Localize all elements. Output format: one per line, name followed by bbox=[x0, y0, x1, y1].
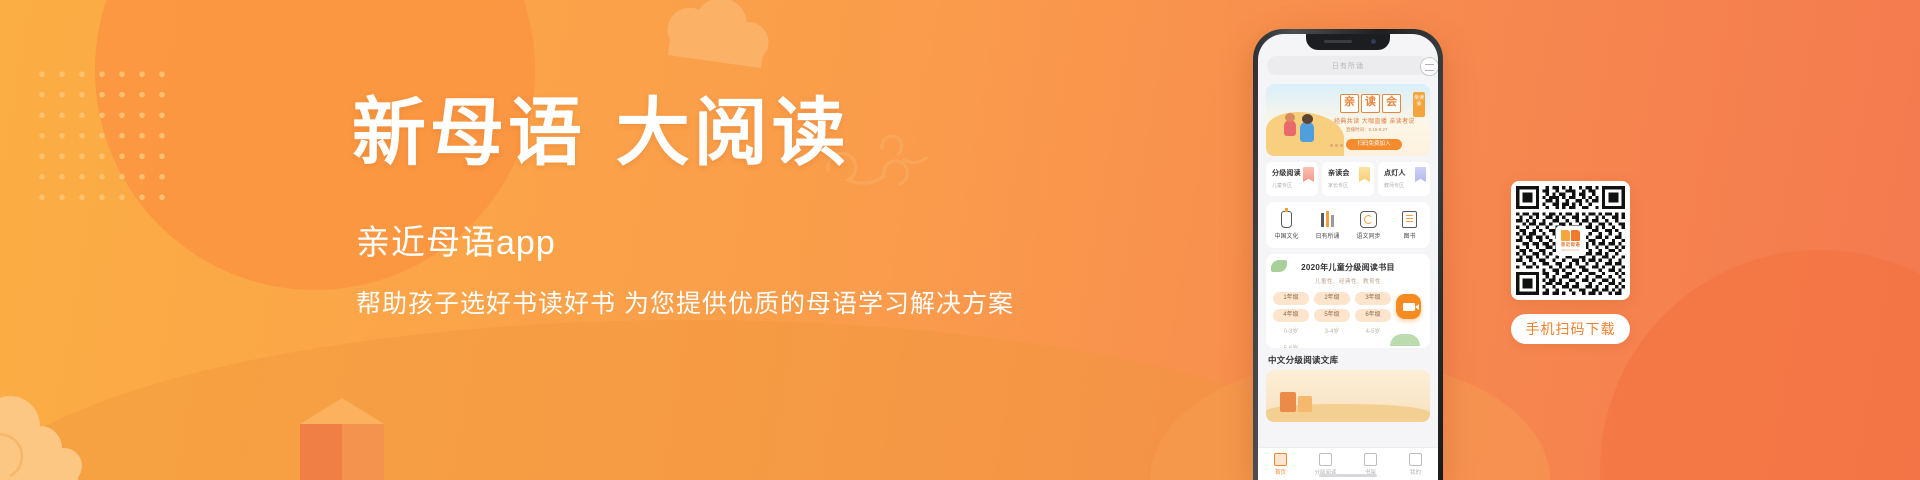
video-play-button[interactable] bbox=[1396, 294, 1421, 319]
tab-label: 首页 bbox=[1261, 468, 1301, 476]
age-chip[interactable]: 3-4岁 bbox=[1314, 326, 1350, 339]
quick-link-daily-recite[interactable]: 日有所诵 bbox=[1310, 210, 1346, 240]
logo-books-icon bbox=[1561, 230, 1580, 241]
grade-chip[interactable]: 1年级 bbox=[1273, 292, 1309, 305]
booklist-section: 2020年儿童分级阅读书目 儿童性、经典性、教育性 1年级 2年级 3年级 4年… bbox=[1266, 254, 1430, 348]
search-placeholder: 日有所诵 bbox=[1332, 61, 1364, 71]
grade-chip[interactable]: 6年级 bbox=[1355, 309, 1391, 322]
card-subtitle: 家长专区 bbox=[1328, 182, 1374, 189]
bookmark-icon bbox=[1359, 167, 1370, 182]
quick-link-label: 中国文化 bbox=[1269, 231, 1305, 240]
tab-label: 我的 bbox=[1396, 468, 1436, 476]
qr-download-block: 亲近母语 QINJIN MUYU 手机扫码下载 bbox=[1511, 181, 1630, 344]
message-icon[interactable] bbox=[1420, 57, 1438, 76]
quick-link-label: 语文同步 bbox=[1351, 231, 1387, 240]
card-subtitle: 儿童专区 bbox=[1272, 182, 1318, 189]
home-icon bbox=[1274, 453, 1287, 466]
download-button-label: 手机扫码下载 bbox=[1526, 319, 1616, 339]
kid-illustration-2 bbox=[1300, 122, 1314, 142]
booklist-subtitle: 儿童性、经典性、教育性 bbox=[1266, 277, 1430, 285]
hero-title-char-3: 会 bbox=[1382, 94, 1401, 113]
qr-center-logo: 亲近母语 QINJIN MUYU bbox=[1556, 226, 1586, 256]
category-card-teacher[interactable]: 点灯人 教师专区 bbox=[1378, 162, 1430, 196]
tab-graded-reading[interactable]: 分级阅读 bbox=[1306, 453, 1346, 476]
tab-home[interactable]: 首页 bbox=[1261, 453, 1301, 476]
qr-code[interactable]: 亲近母语 QINJIN MUYU bbox=[1511, 181, 1630, 300]
grade-chip[interactable]: 5年级 bbox=[1314, 309, 1350, 322]
logo-text-en: QINJIN MUYU bbox=[1562, 249, 1580, 252]
quick-link-label: 日有所诵 bbox=[1310, 231, 1346, 240]
decor-cloud-top bbox=[656, 0, 785, 72]
app-name: 亲近母语app bbox=[356, 226, 1012, 260]
bottle-icon bbox=[1281, 211, 1292, 228]
phone-mockup: 日有所诵 亲 读 会 亲读会 经典共读 大咖直播 亲读者说 直播时间：9.16-… bbox=[1253, 29, 1443, 480]
category-card-graded-reading[interactable]: 分级阅读 儿童专区 bbox=[1266, 162, 1318, 196]
camera-icon bbox=[1371, 39, 1376, 44]
decor-cube bbox=[300, 398, 384, 480]
logo-text-cn: 亲近母语 bbox=[1561, 242, 1580, 248]
speaker-icon bbox=[1324, 40, 1352, 43]
sync-icon bbox=[1360, 211, 1377, 228]
decor-dot-grid bbox=[30, 62, 172, 214]
download-button[interactable]: 手机扫码下载 bbox=[1511, 314, 1630, 344]
quick-link-label: 图书 bbox=[1392, 231, 1428, 240]
tab-profile[interactable]: 我的 bbox=[1396, 453, 1436, 476]
kid-illustration-1 bbox=[1284, 120, 1296, 136]
hero-subtitle: 经典共读 大咖直播 亲读者说 bbox=[1334, 116, 1415, 125]
category-card-parent-club[interactable]: 亲读会 家长专区 bbox=[1322, 162, 1374, 196]
phone-notch bbox=[1306, 34, 1390, 50]
bookmark-icon bbox=[1303, 167, 1314, 182]
app-promo-banner: 新母语 大阅读 亲近母语app 帮助孩子选好书读好书 为您提供优质的母语学习解决… bbox=[0, 0, 1920, 480]
quick-link-row: 中国文化 日有所诵 语文同步 图书 bbox=[1266, 202, 1430, 248]
quick-link-books[interactable]: 图书 bbox=[1392, 210, 1428, 240]
age-chip[interactable]: 0-3岁 bbox=[1273, 326, 1309, 339]
books-icon bbox=[1321, 211, 1335, 227]
library-book-icon bbox=[1298, 396, 1312, 412]
hero-flag: 亲读会 bbox=[1413, 92, 1425, 117]
decor-circle-bottom-right bbox=[1600, 250, 1920, 480]
decor-hill bbox=[0, 320, 1420, 480]
hero-date: 直播时间：9.16-9.27 bbox=[1346, 127, 1388, 133]
age-chip[interactable]: 4-5岁 bbox=[1355, 326, 1391, 339]
card-subtitle: 教师专区 bbox=[1384, 182, 1430, 189]
video-camera-icon bbox=[1403, 303, 1415, 311]
home-indicator bbox=[1319, 474, 1377, 477]
banner-copy: 新母语 大阅读 亲近母语app 帮助孩子选好书读好书 为您提供优质的母语学习解决… bbox=[352, 96, 1012, 317]
decor-cloud-left bbox=[0, 388, 118, 480]
quick-link-textbook-sync[interactable]: 语文同步 bbox=[1351, 210, 1387, 240]
hero-title: 亲 读 会 bbox=[1340, 94, 1401, 113]
library-card[interactable] bbox=[1266, 370, 1430, 422]
reading-icon bbox=[1319, 453, 1332, 466]
grade-chip[interactable]: 4年级 bbox=[1273, 309, 1309, 322]
booklist-title: 2020年儿童分级阅读书目 bbox=[1266, 254, 1430, 273]
age-chip[interactable]: 5-6岁 bbox=[1273, 343, 1309, 348]
hero-banner[interactable]: 亲 读 会 亲读会 经典共读 大咖直播 亲读者说 直播时间：9.16-9.27 … bbox=[1266, 84, 1430, 156]
page-title: 新母语 大阅读 bbox=[352, 96, 1012, 170]
library-section-title: 中文分级阅读文库 bbox=[1268, 354, 1338, 366]
shelf-icon bbox=[1364, 453, 1377, 466]
book-icon bbox=[1402, 211, 1417, 228]
library-book-icon bbox=[1280, 392, 1296, 412]
user-icon bbox=[1409, 453, 1422, 466]
banner-tagline: 帮助孩子选好书读好书 为您提供优质的母语学习解决方案 bbox=[356, 292, 1012, 317]
bookmark-icon bbox=[1415, 167, 1426, 182]
search-input[interactable]: 日有所诵 bbox=[1267, 56, 1429, 75]
carousel-dots[interactable] bbox=[1330, 144, 1343, 147]
hero-cta-button[interactable]: 扫码免费加入 bbox=[1346, 139, 1402, 150]
tab-bookshelf[interactable]: 书架 bbox=[1351, 453, 1391, 476]
phone-screen: 日有所诵 亲 读 会 亲读会 经典共读 大咖直播 亲读者说 直播时间：9.16-… bbox=[1258, 34, 1438, 480]
category-cards: 分级阅读 儿童专区 亲读会 家长专区 点灯人 教师专区 bbox=[1266, 162, 1430, 196]
grade-chip[interactable]: 2年级 bbox=[1314, 292, 1350, 305]
hero-title-char-2: 读 bbox=[1361, 94, 1380, 113]
quick-link-chinese-culture[interactable]: 中国文化 bbox=[1269, 210, 1305, 240]
leaf-icon bbox=[1390, 334, 1420, 346]
grade-chip-grid: 1年级 2年级 3年级 4年级 5年级 6年级 0-3岁 3-4岁 4-5岁 5… bbox=[1273, 292, 1391, 348]
hero-title-char-1: 亲 bbox=[1340, 94, 1359, 113]
grade-chip[interactable]: 3年级 bbox=[1355, 292, 1391, 305]
